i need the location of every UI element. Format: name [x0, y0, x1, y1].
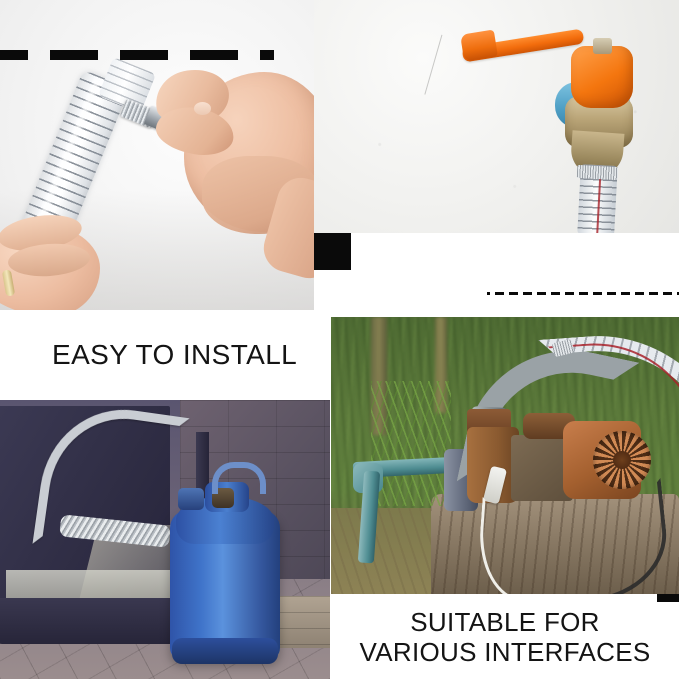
dash-segment	[509, 292, 518, 295]
dash-segment	[523, 292, 532, 295]
valve-stem-nut	[593, 38, 612, 54]
dash-segment	[50, 50, 98, 60]
caption-suitable-text-block: SUITABLE FOR VARIOUS INTERFACES	[360, 607, 651, 667]
cabinet-base	[0, 598, 179, 644]
right-hand	[150, 60, 314, 260]
dash-segment	[190, 50, 238, 60]
dash-segment	[487, 292, 490, 295]
dash-segment	[565, 292, 574, 295]
hose-clamp	[577, 165, 619, 180]
caption-suitable-line2: VARIOUS INTERFACES	[360, 637, 651, 667]
cylinder-valve-left	[178, 488, 204, 510]
dash-segment	[593, 292, 602, 295]
dash-segment	[0, 50, 28, 60]
loose-bricks	[276, 596, 330, 648]
dash-segment	[551, 292, 560, 295]
accent-dash-bottom-right	[657, 594, 679, 602]
orange-valve-cap	[571, 46, 633, 108]
cylinder-foot-ring	[172, 638, 278, 664]
orange-valve-handle-grip	[460, 30, 498, 62]
accent-square	[314, 233, 351, 270]
dash-segment	[495, 292, 504, 295]
dash-segment	[635, 292, 644, 295]
dash-segment	[120, 50, 168, 60]
dash-segment	[649, 292, 658, 295]
right-hand-thumbnail	[194, 102, 211, 115]
photo-hands-installing-hose	[0, 0, 314, 310]
dash-segment	[579, 292, 588, 295]
photo-blue-gas-cylinder	[0, 400, 330, 679]
cylinder-carry-handle	[212, 462, 266, 494]
dash-segment	[260, 50, 274, 60]
dash-segment	[621, 292, 630, 295]
caption-easy-text: EASY TO INSTALL	[0, 339, 297, 371]
caption-suitable-line1: SUITABLE FOR	[360, 607, 651, 637]
dash-segment	[607, 292, 616, 295]
photo-water-pump-on-stump	[331, 317, 679, 594]
collage-canvas: EASY TO INSTALL	[0, 0, 679, 679]
caption-suitable-for-various-interfaces: SUITABLE FOR VARIOUS INTERFACES	[331, 594, 679, 679]
dashed-rule-right	[487, 292, 679, 295]
dashed-rule-top-left	[0, 50, 274, 60]
green-weed	[371, 381, 451, 506]
left-hand	[0, 216, 112, 310]
caption-easy-to-install: EASY TO INSTALL	[0, 310, 314, 400]
dash-segment	[663, 292, 672, 295]
photo-orange-ball-valve	[314, 0, 679, 233]
dash-segment	[537, 292, 546, 295]
